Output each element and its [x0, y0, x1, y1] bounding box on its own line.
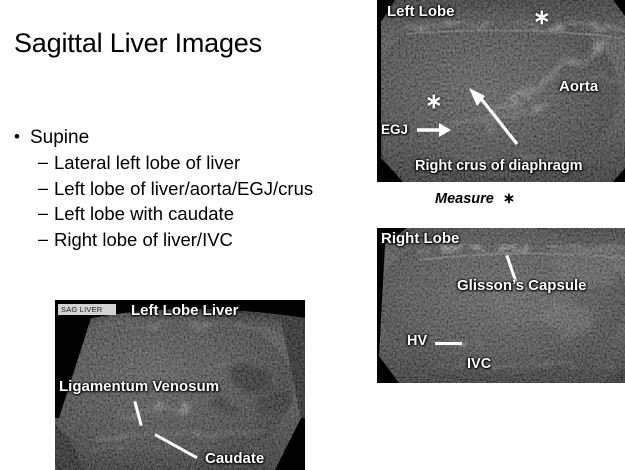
ultrasound-panel-left-lobe-caudate: SAG LIVER Left Lobe Liver Ligamentum Ven…	[55, 300, 305, 470]
caudate-leader-line	[154, 433, 197, 459]
bullet-marker: –	[38, 150, 48, 176]
list-item-label: Left lobe of liver/aorta/EGJ/crus	[54, 178, 313, 199]
label-ligamentum-venosum: Ligamentum Venosum	[59, 378, 219, 395]
list-item-label: Supine	[30, 127, 89, 148]
label-aorta: Aorta	[559, 78, 598, 95]
label-left-lobe: Left Lobe	[387, 3, 455, 20]
ligamentum-venosum-leader-line	[134, 401, 143, 426]
list-item-label: Lateral left lobe of liver	[54, 152, 240, 173]
list-item-label: Left lobe with caudate	[54, 203, 234, 224]
bullet-marker: –	[38, 201, 48, 227]
label-egj: EGJ	[381, 122, 408, 137]
hv-leader-line	[435, 342, 462, 345]
right-crus-arrow-icon	[465, 86, 525, 150]
measure-caption-label: Measure	[435, 191, 494, 207]
label-ivc: IVC	[467, 356, 491, 372]
bullet-marker: –	[38, 227, 48, 253]
measure-caption: Measure∗	[435, 191, 515, 207]
list-item-label: Right lobe of liver/IVC	[54, 229, 233, 250]
bullet-marker: •	[14, 124, 20, 149]
page-title: Sagittal Liver Images	[14, 28, 262, 59]
label-glissons-capsule: Glisson’s Capsule	[457, 277, 587, 294]
label-right-lobe: Right Lobe	[381, 230, 459, 247]
list-item: – Left lobe of liver/aorta/EGJ/crus	[8, 176, 378, 202]
ultrasound-panel-right-lobe-ivc: Right Lobe Glisson’s Capsule HV IVC	[377, 228, 625, 383]
label-hv: HV	[407, 333, 427, 349]
label-left-lobe-liver: Left Lobe Liver	[131, 302, 239, 319]
marker-asterisk-upper: ∗	[533, 7, 551, 28]
ultrasound-panel-left-lobe-aorta-egj: Left Lobe ∗ Aorta ∗ EGJ Right crus of di…	[377, 0, 625, 182]
measure-caption-marker: ∗	[494, 191, 515, 207]
scanner-tag-sag-liver: SAG LIVER	[58, 304, 116, 315]
bullet-list: • Supine – Lateral left lobe of liver – …	[8, 125, 378, 252]
list-item: – Lateral left lobe of liver	[8, 150, 378, 176]
list-item: – Left lobe with caudate	[8, 201, 378, 227]
label-right-crus-of-diaphragm: Right crus of diaphragm	[415, 158, 583, 174]
list-item: • Supine	[8, 125, 378, 150]
label-caudate: Caudate	[205, 450, 264, 467]
bullet-marker: –	[38, 176, 48, 202]
egj-arrow-icon	[415, 120, 453, 140]
marker-asterisk-lower: ∗	[425, 91, 443, 112]
list-item: – Right lobe of liver/IVC	[8, 227, 378, 253]
